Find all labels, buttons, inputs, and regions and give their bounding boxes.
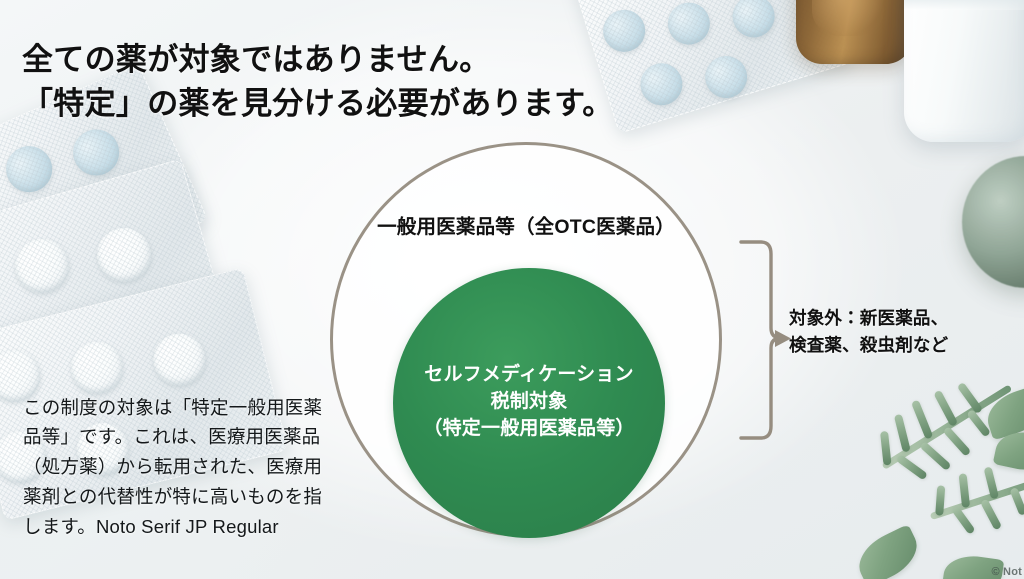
inner-circle-label-line-1: セルフメディケーション: [393, 362, 665, 389]
callout-line-1: 対象外：新医薬品、: [789, 305, 1009, 332]
callout-text: 対象外：新医薬品、 検査薬、殺虫剤など: [789, 305, 1009, 360]
slide-canvas: © Not 全ての薬が対象ではありません。 「特定」の薬を見分ける必要があります…: [0, 0, 1024, 579]
white-pill-bottle-photo: [904, 0, 1024, 142]
headline-line-1: 全ての薬が対象ではありません。: [22, 38, 742, 82]
inner-circle-label-line-3: （特定一般用医薬品等）: [393, 416, 665, 443]
amber-glass-jar-photo: [796, 0, 912, 64]
callout-line-2: 検査薬、殺虫剤など: [789, 332, 1009, 359]
headline-line-2: 「特定」の薬を見分ける必要があります。: [22, 82, 742, 126]
inner-circle-label-line-2: 税制対象: [393, 389, 665, 416]
outer-circle-label: 一般用医薬品等（全OTC医薬品）: [330, 210, 722, 239]
body-paragraph: この制度の対象は「特定一般用医薬品等」です。これは、医療用医薬品（処方薬）から転…: [23, 393, 323, 543]
inner-circle-label: セルフメディケーション 税制対象 （特定一般用医薬品等）: [393, 362, 665, 443]
watermark-text: © Not: [992, 566, 1023, 578]
page-title: 全ての薬が対象ではありません。 「特定」の薬を見分ける必要があります。: [22, 38, 742, 126]
